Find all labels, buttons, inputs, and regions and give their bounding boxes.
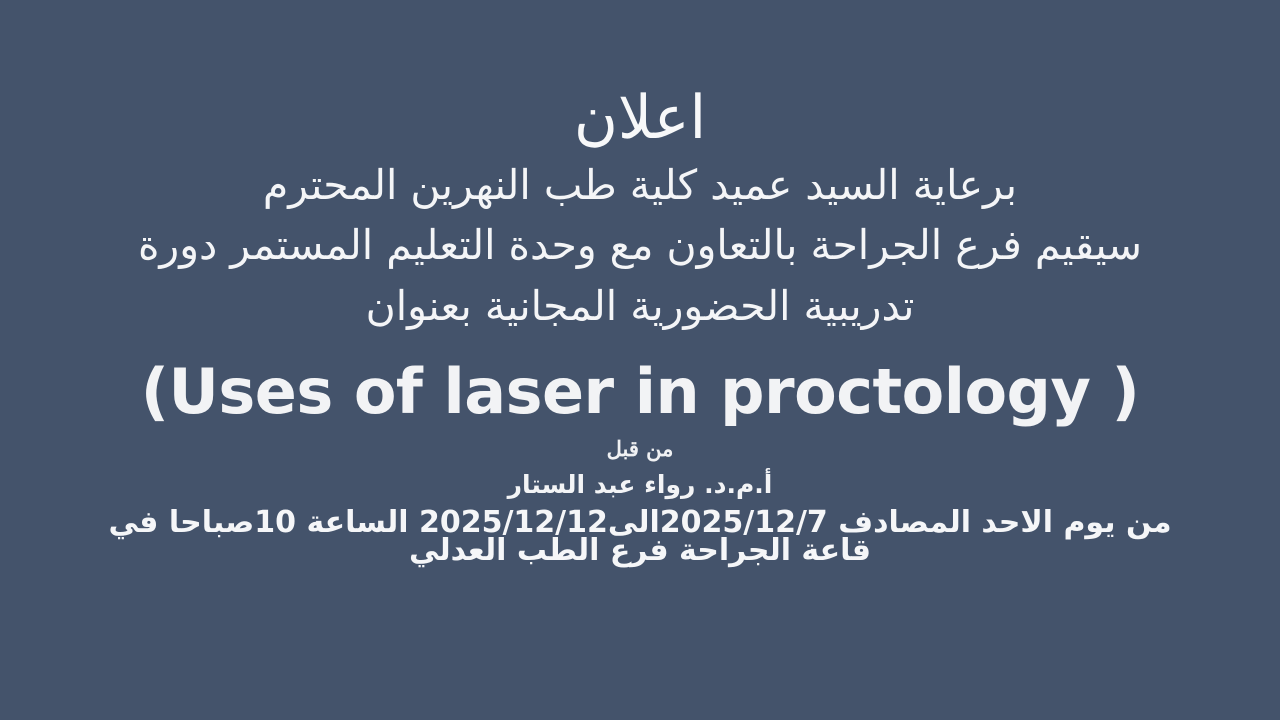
by-label: من قبل (0, 436, 1280, 462)
announcement-slide: اعلان برعاية السيد عميد كلية طب النهرين … (0, 0, 1280, 720)
intro-line-patronage: برعاية السيد عميد كلية طب النهرين المحتر… (20, 155, 1260, 216)
intro-line-course-type: تدريبية الحضورية المجانية بعنوان (20, 276, 1260, 337)
course-title: (Uses of laser in proctology ) (0, 357, 1280, 426)
presenter-name: أ.م.د. رواء عبد الستار (0, 469, 1280, 500)
intro-paragraph: برعاية السيد عميد كلية طب النهرين المحتر… (0, 155, 1280, 337)
slide-content: اعلان برعاية السيد عميد كلية طب النهرين … (0, 0, 1280, 567)
page-title: اعلان (0, 0, 1280, 151)
schedule-block: من يوم الاحد المصادف 2025/12/7الى2025/12… (0, 508, 1280, 567)
venue-location: قاعة الجراحة فرع الطب العدلي (10, 536, 1270, 567)
intro-line-organizer: سيقيم فرع الجراحة بالتعاون مع وحدة التعل… (20, 215, 1260, 276)
